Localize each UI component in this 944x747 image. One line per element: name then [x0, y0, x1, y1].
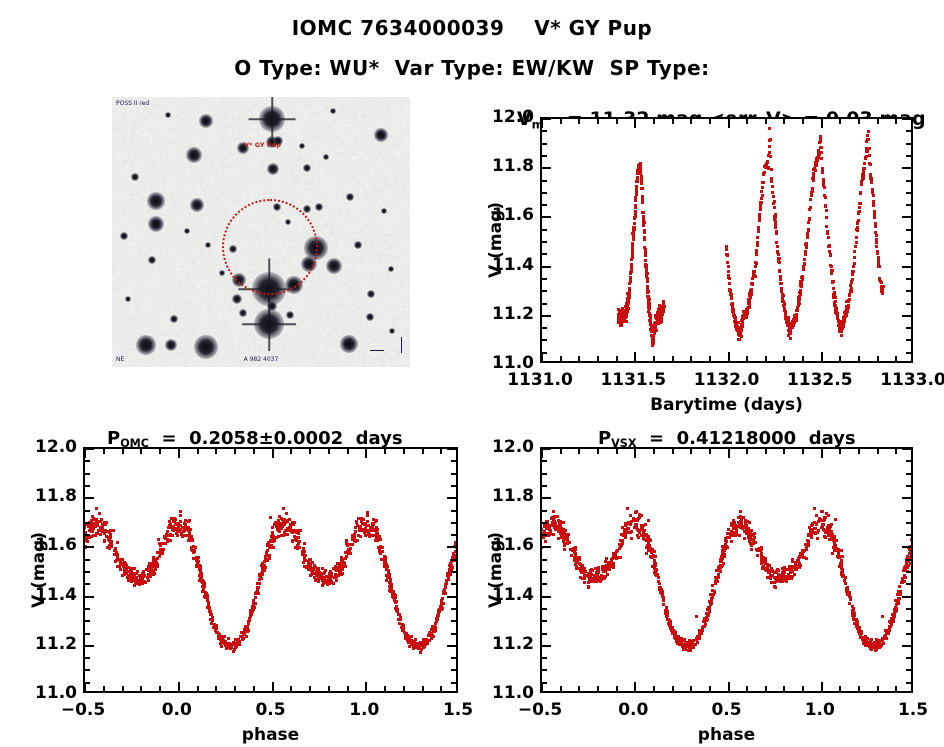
axis-tick-minor: [616, 449, 618, 454]
x-axis-label-phase-vsx: phase: [540, 725, 913, 745]
panel-phase-omc: POMC = 0.2058±0.0002 days V (mag) phase …: [0, 405, 472, 747]
axis-tick-minor: [384, 686, 386, 691]
star-point: [199, 114, 213, 128]
axis-tick-minor: [403, 449, 405, 454]
axis-tick: [542, 266, 551, 268]
axis-tick-minor: [906, 241, 911, 243]
star-point: [267, 301, 277, 311]
axis-tick-minor: [542, 303, 547, 305]
axis-tick-minor: [122, 686, 124, 691]
axis-tick-minor: [877, 449, 879, 454]
plot-area-phase-omc: [83, 447, 458, 693]
axis-tick-minor: [542, 633, 547, 635]
axis-tick-minor: [85, 510, 90, 512]
axis-tick: [542, 596, 551, 598]
axis-tick-minor: [906, 204, 911, 206]
axis-tick-minor: [309, 686, 311, 691]
y-axis-label-phase-omc: V (mag): [29, 447, 49, 693]
axis-tick-minor: [578, 449, 580, 454]
axis-tick-minor: [906, 290, 911, 292]
y-tick-label: 11.4: [482, 255, 534, 275]
star-point: [299, 143, 305, 149]
axis-tick-minor: [653, 119, 655, 124]
star-point: [120, 232, 128, 240]
axis-tick-minor: [215, 449, 217, 454]
data-points-phase-omc: [85, 449, 456, 691]
star-point: [131, 173, 139, 181]
x-axis-label-phase-omc: phase: [83, 725, 458, 745]
axis-tick: [902, 118, 911, 120]
star-point: [315, 203, 323, 211]
axis-tick-minor: [783, 449, 785, 454]
axis-tick-minor: [765, 449, 767, 454]
axis-tick-minor: [839, 356, 841, 361]
y-tick-label: 11.0: [482, 683, 534, 703]
axis-tick: [902, 266, 911, 268]
star-point: [148, 256, 156, 264]
axis-tick-minor: [578, 119, 580, 124]
y-tick-label: 11.2: [482, 634, 534, 654]
axis-tick: [85, 645, 94, 647]
star-point: [148, 216, 164, 232]
y-tick-label: 11.8: [482, 486, 534, 506]
axis-tick-minor: [197, 686, 199, 691]
finding-chart-survey-label: POSS II red: [116, 100, 149, 107]
star-point: [136, 335, 156, 355]
y-axis-label-lightcurve-time: V (mag): [486, 117, 506, 363]
axis-tick-minor: [440, 449, 442, 454]
star-point: [381, 208, 387, 214]
axis-tick-minor: [85, 559, 90, 561]
star-point: [366, 313, 374, 321]
axis-tick-minor: [542, 229, 547, 231]
axis-tick-minor: [542, 327, 547, 329]
axis-tick-minor: [451, 682, 456, 684]
star-point: [367, 290, 375, 298]
axis-tick-minor: [783, 119, 785, 124]
axis-tick-minor: [542, 473, 547, 475]
axis-tick-minor: [877, 356, 879, 361]
y-tick-label: 11.2: [482, 304, 534, 324]
axis-tick-minor: [103, 686, 105, 691]
axis-tick: [85, 448, 94, 450]
axis-tick-minor: [672, 686, 674, 691]
axis-tick-minor: [858, 449, 860, 454]
x-tick-label: 1132.5: [787, 370, 853, 390]
axis-tick-minor: [906, 303, 911, 305]
axis-tick: [542, 315, 551, 317]
star-point: [165, 112, 171, 118]
plot-area-lightcurve-time: [540, 117, 913, 363]
x-tick-label: 0.5: [255, 700, 285, 720]
axis-tick: [821, 119, 823, 128]
axis-tick-minor: [560, 119, 562, 124]
compass-arrow-icon: [370, 350, 384, 351]
axis-tick-minor: [906, 352, 911, 354]
axis-tick: [902, 167, 911, 169]
axis-tick-minor: [451, 657, 456, 659]
axis-tick: [542, 118, 551, 120]
axis-tick: [902, 497, 911, 499]
axis-tick-minor: [542, 278, 547, 280]
axis-tick-minor: [422, 686, 424, 691]
axis-tick-minor: [858, 356, 860, 361]
star-point: [340, 335, 358, 353]
star-point: [186, 147, 202, 163]
data-points-phase-vsx: [542, 449, 911, 691]
axis-tick-minor: [85, 620, 90, 622]
panel-lightcurve-time: V (mag) Barytime (days) 1131.01131.51132…: [472, 110, 944, 400]
axis-tick: [447, 645, 456, 647]
axis-tick-minor: [85, 657, 90, 659]
axis-tick-minor: [597, 449, 599, 454]
axis-tick: [902, 596, 911, 598]
axis-tick-minor: [906, 485, 911, 487]
axis-tick-minor: [690, 686, 692, 691]
axis-tick: [272, 682, 274, 691]
y-tick-label: 11.6: [25, 535, 77, 555]
axis-tick-minor: [451, 510, 456, 512]
star-point: [286, 311, 294, 319]
axis-tick: [728, 119, 730, 128]
axis-tick-minor: [542, 290, 547, 292]
y-tick-label: 12.0: [482, 437, 534, 457]
axis-tick-minor: [328, 686, 330, 691]
star-point: [194, 335, 218, 359]
axis-tick-minor: [839, 119, 841, 124]
star-point: [303, 164, 311, 172]
axis-tick-minor: [616, 686, 618, 691]
axis-tick-minor: [542, 253, 547, 255]
axis-tick-minor: [451, 534, 456, 536]
plot-area-phase-vsx: [540, 447, 913, 693]
axis-tick: [542, 497, 551, 499]
axis-tick-minor: [542, 204, 547, 206]
axis-tick-minor: [616, 119, 618, 124]
axis-tick-minor: [85, 522, 90, 524]
axis-tick: [541, 119, 543, 128]
axis-tick: [85, 596, 94, 598]
axis-tick-minor: [290, 449, 292, 454]
axis-tick: [447, 497, 456, 499]
axis-tick-minor: [906, 473, 911, 475]
axis-tick-minor: [451, 583, 456, 585]
y-tick-label: 11.6: [482, 205, 534, 225]
star-point: [389, 328, 395, 334]
axis-tick: [365, 449, 367, 458]
axis-tick-minor: [85, 682, 90, 684]
axis-tick-minor: [85, 571, 90, 573]
axis-tick-minor: [597, 119, 599, 124]
axis-tick-minor: [542, 460, 547, 462]
axis-tick-minor: [542, 180, 547, 182]
x-tick-label: 1133.0: [880, 370, 944, 390]
axis-tick-minor: [906, 460, 911, 462]
y-tick-label: 11.0: [25, 683, 77, 703]
data-points-lightcurve-time: [542, 119, 911, 361]
axis-tick-minor: [451, 669, 456, 671]
axis-tick-minor: [906, 522, 911, 524]
star-point: [125, 296, 131, 302]
axis-tick-minor: [765, 686, 767, 691]
finding-chart-footer-label: A 982 4037: [244, 356, 279, 363]
axis-tick: [902, 315, 911, 317]
axis-tick-minor: [906, 229, 911, 231]
axis-tick-minor: [542, 608, 547, 610]
axis-tick-minor: [578, 356, 580, 361]
star-point: [303, 205, 311, 213]
axis-tick-minor: [451, 485, 456, 487]
axis-tick: [542, 645, 551, 647]
axis-tick-minor: [542, 352, 547, 354]
period-vsx-value: = 0.41218000 days: [636, 428, 855, 449]
axis-tick-minor: [709, 119, 711, 124]
axis-tick-minor: [616, 356, 618, 361]
axis-tick-minor: [542, 583, 547, 585]
axis-tick-minor: [85, 473, 90, 475]
axis-tick-minor: [906, 583, 911, 585]
period-vsx-symbol: P: [598, 428, 611, 449]
axis-tick-minor: [906, 253, 911, 255]
scale-bar-icon: [401, 337, 402, 353]
axis-tick-minor: [159, 449, 161, 454]
axis-tick-minor: [653, 449, 655, 454]
star-point: [346, 193, 354, 201]
axis-tick-minor: [709, 686, 711, 691]
star-point: [239, 309, 247, 317]
axis-tick-minor: [253, 686, 255, 691]
axis-tick: [634, 352, 636, 361]
axis-tick-minor: [802, 686, 804, 691]
axis-tick-minor: [839, 686, 841, 691]
x-tick-label: 1131.0: [507, 370, 573, 390]
y-tick-label: 11.8: [25, 486, 77, 506]
axis-tick-minor: [858, 686, 860, 691]
axis-tick-minor: [858, 119, 860, 124]
axis-tick-minor: [85, 485, 90, 487]
axis-tick: [634, 119, 636, 128]
axis-tick-minor: [542, 143, 547, 145]
axis-tick-minor: [290, 686, 292, 691]
axis-tick: [728, 682, 730, 691]
axis-tick: [821, 449, 823, 458]
iomc-variable-star-figure: IOMC 7634000039 V* GY Pup O Type: WU* Va…: [0, 0, 944, 747]
axis-tick-minor: [234, 449, 236, 454]
y-tick-label: 11.0: [482, 353, 534, 373]
axis-tick-minor: [906, 620, 911, 622]
axis-tick-minor: [542, 510, 547, 512]
axis-tick-minor: [709, 356, 711, 361]
target-marker-circle: [222, 199, 318, 295]
axis-tick-minor: [85, 583, 90, 585]
axis-tick-minor: [895, 119, 897, 124]
finding-chart-image: V* GY Pup POSS II red NE A 982 4037: [112, 97, 410, 367]
axis-tick-minor: [802, 356, 804, 361]
axis-tick-minor: [906, 534, 911, 536]
axis-tick-minor: [672, 119, 674, 124]
axis-tick-minor: [560, 356, 562, 361]
star-point: [170, 315, 178, 323]
axis-tick-minor: [877, 119, 879, 124]
axis-tick-minor: [802, 449, 804, 454]
axis-tick-minor: [347, 449, 349, 454]
axis-tick-minor: [877, 686, 879, 691]
axis-tick-minor: [403, 686, 405, 691]
axis-tick-minor: [440, 686, 442, 691]
axis-tick: [85, 497, 94, 499]
period-omc-symbol: P: [107, 428, 120, 449]
axis-tick-minor: [85, 669, 90, 671]
axis-tick: [728, 352, 730, 361]
axis-tick-minor: [672, 449, 674, 454]
axis-tick-minor: [560, 449, 562, 454]
x-tick-label: 1.0: [805, 700, 835, 720]
axis-tick: [902, 645, 911, 647]
axis-tick-minor: [85, 633, 90, 635]
axis-tick-minor: [140, 686, 142, 691]
axis-tick: [542, 448, 551, 450]
axis-tick: [447, 546, 456, 548]
y-tick-label: 12.0: [25, 437, 77, 457]
star-point: [330, 108, 336, 114]
axis-tick-minor: [542, 130, 547, 132]
axis-tick-minor: [542, 682, 547, 684]
axis-tick-minor: [560, 686, 562, 691]
axis-tick-minor: [451, 608, 456, 610]
axis-tick: [728, 449, 730, 458]
star-point: [205, 242, 211, 248]
axis-tick-minor: [690, 119, 692, 124]
axis-tick: [902, 448, 911, 450]
axis-tick-minor: [783, 356, 785, 361]
axis-tick: [821, 682, 823, 691]
axis-tick-minor: [140, 449, 142, 454]
axis-tick-minor: [328, 449, 330, 454]
axis-tick-minor: [451, 522, 456, 524]
axis-tick-minor: [906, 669, 911, 671]
axis-tick: [541, 449, 543, 458]
axis-tick-minor: [542, 571, 547, 573]
star-point: [147, 192, 165, 210]
axis-tick-minor: [746, 449, 748, 454]
axis-tick-minor: [85, 460, 90, 462]
axis-tick-minor: [542, 522, 547, 524]
axis-tick-minor: [159, 686, 161, 691]
star-point: [323, 154, 329, 160]
axis-tick-minor: [690, 449, 692, 454]
axis-tick-minor: [85, 608, 90, 610]
axis-tick-minor: [906, 633, 911, 635]
axis-tick-minor: [906, 278, 911, 280]
x-tick-label: −0.5: [518, 700, 562, 720]
axis-tick-minor: [906, 155, 911, 157]
axis-tick-minor: [542, 657, 547, 659]
x-tick-label: 1.5: [898, 700, 928, 720]
axis-tick-minor: [839, 449, 841, 454]
finding-chart-orientation-label: NE: [116, 356, 124, 363]
x-tick-label: −0.5: [61, 700, 105, 720]
star-point: [184, 228, 190, 234]
finding-chart-star-label: V* GY Pup: [244, 141, 281, 149]
y-tick-label: 11.2: [25, 634, 77, 654]
axis-tick-minor: [653, 686, 655, 691]
axis-tick-minor: [542, 241, 547, 243]
axis-tick-minor: [906, 657, 911, 659]
axis-tick-minor: [542, 620, 547, 622]
axis-tick: [85, 546, 94, 548]
axis-tick-minor: [765, 356, 767, 361]
axis-tick-minor: [709, 449, 711, 454]
star-point: [219, 270, 225, 276]
axis-tick-minor: [309, 449, 311, 454]
axis-tick-minor: [690, 356, 692, 361]
axis-tick-minor: [451, 633, 456, 635]
y-tick-label: 11.4: [25, 585, 77, 605]
axis-tick: [542, 546, 551, 548]
classification-line: O Type: WU* Var Type: EW/KW SP Type:: [0, 56, 944, 80]
axis-tick-minor: [906, 180, 911, 182]
axis-tick-minor: [197, 449, 199, 454]
x-tick-label: 1132.0: [694, 370, 760, 390]
axis-tick-minor: [906, 339, 911, 341]
axis-tick: [902, 546, 911, 548]
axis-tick: [272, 449, 274, 458]
y-tick-label: 11.8: [482, 156, 534, 176]
star-point: [267, 163, 279, 175]
y-tick-label: 11.6: [482, 535, 534, 555]
axis-tick-minor: [215, 686, 217, 691]
axis-tick-minor: [895, 686, 897, 691]
axis-tick-minor: [542, 534, 547, 536]
star-point: [326, 258, 342, 274]
axis-tick: [84, 449, 86, 458]
axis-tick-minor: [906, 192, 911, 194]
axis-tick-minor: [653, 356, 655, 361]
x-tick-label: 1.5: [443, 700, 473, 720]
star-point: [190, 198, 204, 212]
axis-tick-minor: [906, 559, 911, 561]
axis-tick-minor: [906, 682, 911, 684]
axis-tick-minor: [895, 356, 897, 361]
axis-tick-minor: [347, 686, 349, 691]
star-point: [354, 241, 362, 249]
axis-tick-minor: [906, 130, 911, 132]
axis-tick-minor: [746, 686, 748, 691]
axis-tick-minor: [422, 449, 424, 454]
axis-tick-minor: [451, 559, 456, 561]
axis-tick-minor: [578, 686, 580, 691]
axis-tick: [542, 216, 551, 218]
axis-tick-minor: [597, 356, 599, 361]
axis-tick-minor: [672, 356, 674, 361]
axis-tick-minor: [253, 449, 255, 454]
axis-tick-minor: [542, 485, 547, 487]
page-title: IOMC 7634000039 V* GY Pup: [0, 16, 944, 40]
axis-tick-minor: [234, 686, 236, 691]
axis-tick-minor: [542, 339, 547, 341]
y-tick-label: 11.4: [482, 585, 534, 605]
axis-tick-minor: [451, 571, 456, 573]
axis-tick: [902, 216, 911, 218]
axis-tick-minor: [802, 119, 804, 124]
y-tick-label: 12.0: [482, 107, 534, 127]
panel-phase-vsx: PVSX = 0.41218000 days V (mag) phase −0.…: [472, 405, 944, 747]
axis-tick: [447, 596, 456, 598]
axis-tick: [178, 682, 180, 691]
axis-tick-minor: [746, 356, 748, 361]
star-point: [388, 266, 394, 272]
x-tick-label: 0.0: [618, 700, 648, 720]
